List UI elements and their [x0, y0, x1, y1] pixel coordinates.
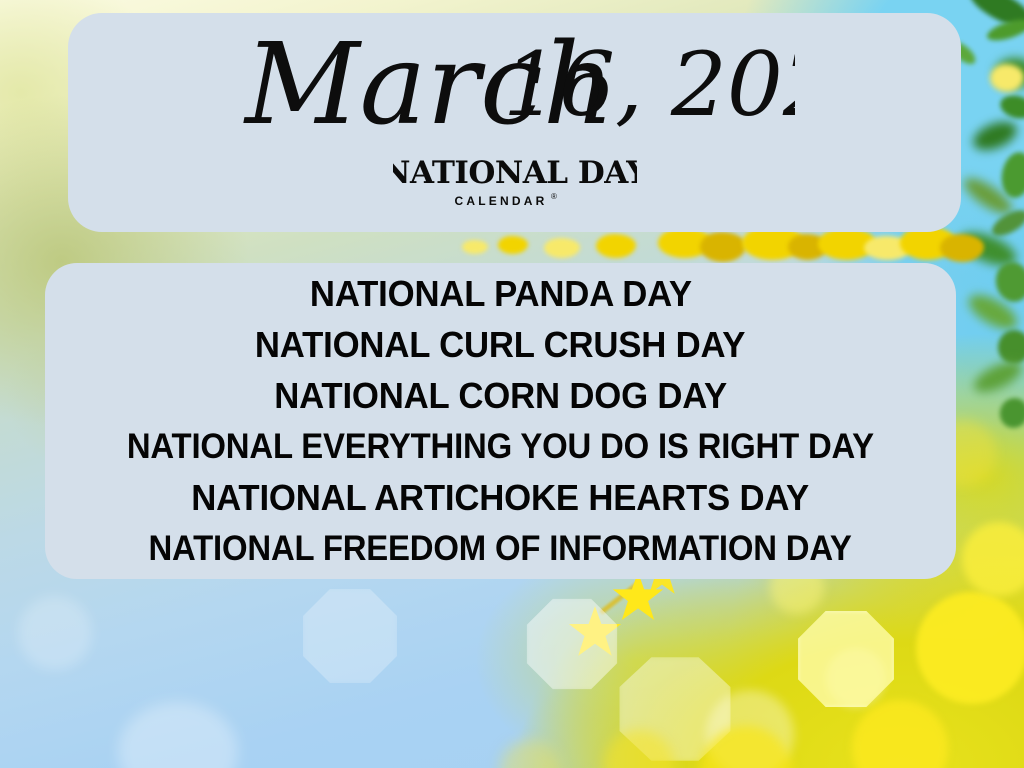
observances-card: NATIONAL PANDA DAYNATIONAL CURL CRUSH DA…: [45, 263, 956, 579]
observance-item: NATIONAL FREEDOM OF INFORMATION DAY: [149, 523, 852, 574]
logo-registered-mark: ®: [551, 192, 557, 201]
observance-list: NATIONAL PANDA DAYNATIONAL CURL CRUSH DA…: [45, 268, 956, 574]
date-heading: March 16, 2025: [68, 15, 961, 155]
poster-canvas: March 16, 2025 NATIONAL DAY CALENDAR ® N…: [0, 0, 1024, 768]
observance-item: NATIONAL PANDA DAY: [310, 268, 692, 319]
observance-item: NATIONAL EVERYTHING YOU DO IS RIGHT DAY: [127, 421, 874, 472]
date-rest: 16, 2025: [503, 33, 795, 136]
observance-item: NATIONAL CURL CRUSH DAY: [255, 319, 745, 370]
date-script-graphic: March 16, 2025: [235, 15, 795, 155]
logo-graphic: NATIONAL DAY CALENDAR ®: [393, 149, 637, 211]
observance-item: NATIONAL ARTICHOKE HEARTS DAY: [192, 472, 810, 523]
header-card: March 16, 2025 NATIONAL DAY CALENDAR ®: [68, 13, 961, 232]
logo-subtitle: CALENDAR: [454, 194, 547, 208]
national-day-calendar-logo[interactable]: NATIONAL DAY CALENDAR ®: [393, 149, 637, 211]
logo-wordmark: NATIONAL DAY: [393, 155, 637, 191]
observance-item: NATIONAL CORN DOG DAY: [274, 370, 727, 421]
